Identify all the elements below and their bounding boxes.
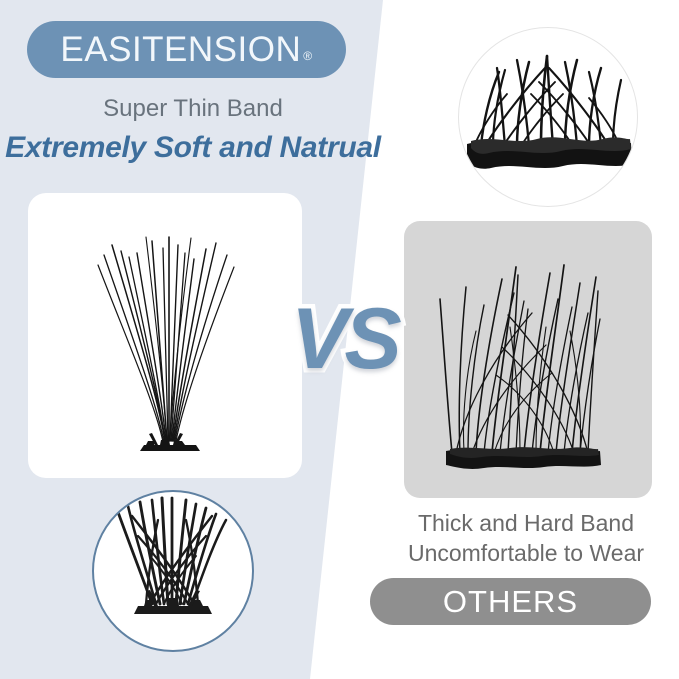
thin-band-closeup-image [94, 492, 252, 650]
thick-band-closeup-image [459, 28, 637, 206]
brand-name: EASITENSION® [60, 32, 312, 67]
others-product-card [404, 221, 652, 498]
brand-logo-pill: EASITENSION® [27, 21, 346, 78]
others-badge: OTHERS [370, 578, 651, 625]
registered-trademark-icon: ® [303, 50, 312, 62]
others-caption-line2: Uncomfortable to Wear [376, 538, 676, 568]
comparison-infographic: EASITENSION® Super Thin Band Extremely S… [0, 0, 679, 679]
others-caption-line1: Thick and Hard Band [376, 508, 676, 538]
easitension-product-card [28, 193, 302, 478]
others-caption: Thick and Hard Band Uncomfortable to Wea… [376, 508, 676, 568]
thick-band-detail-circle [458, 27, 638, 207]
page-title: Extremely Soft and Natrual [0, 131, 386, 165]
thin-lash-cluster-image [28, 193, 302, 478]
subtitle-text: Super Thin Band [0, 95, 386, 123]
vs-badge: VS [291, 296, 398, 382]
vs-label: VS [291, 291, 398, 387]
brand-name-text: EASITENSION [60, 32, 301, 67]
thick-lash-strip-image [404, 221, 652, 498]
others-badge-label: OTHERS [443, 584, 578, 620]
thin-band-detail-circle [92, 490, 254, 652]
